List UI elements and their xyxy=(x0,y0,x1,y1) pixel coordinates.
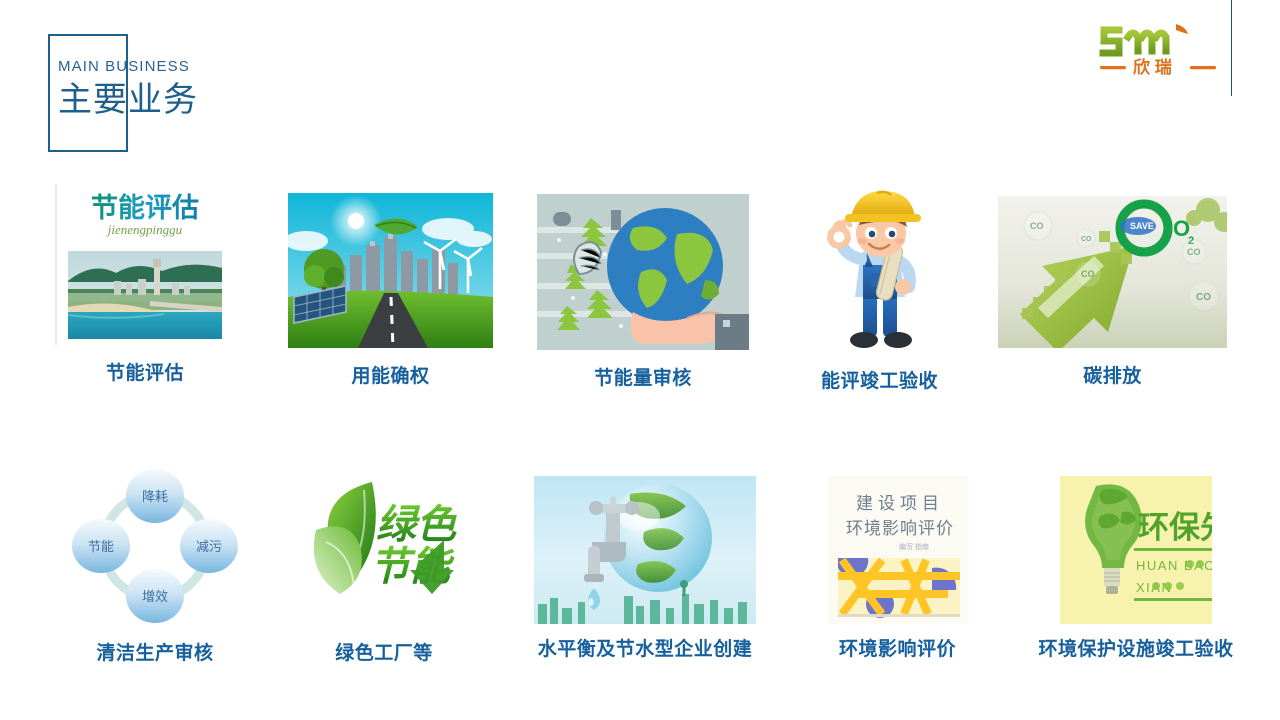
svg-text:SAVE: SAVE xyxy=(1130,221,1154,231)
business-card-caption: 用能确权 xyxy=(268,365,513,389)
business-card-environmental-impact-assessment[interactable]: 建设项目 环境影响评价 编写 指南 xyxy=(790,468,1005,662)
svg-text:节能评估: 节能评估 xyxy=(91,192,199,223)
svg-text:环境影响评价: 环境影响评价 xyxy=(846,519,954,538)
business-card-water-balance[interactable]: 水平衡及节水型企业创建 xyxy=(500,468,790,662)
svg-text:环保先: 环保先 xyxy=(1138,510,1212,545)
business-row-1: 节能评估 jienengpinggu xyxy=(0,185,1280,400)
business-card-carbon-emission[interactable]: O 2 SAVE CO CO CO xyxy=(985,185,1240,389)
business-card-energy-assessment-acceptance[interactable]: 能评竣工验收 xyxy=(772,185,987,394)
business-card-energy-saving-assessment[interactable]: 节能评估 jienengpinggu xyxy=(20,185,270,386)
business-card-caption: 节能量审核 xyxy=(518,367,768,391)
svg-text:CO: CO xyxy=(1196,292,1211,303)
business-card-caption: 碳排放 xyxy=(985,365,1240,389)
construction-worker-ok-mascot-image xyxy=(805,187,955,353)
business-card-caption: 绿色工厂等 xyxy=(268,642,500,666)
sunri-logo: 欣 瑞 xyxy=(1098,20,1218,82)
slide-canvas: MAIN BUSINESS 主要业务 xyxy=(0,0,1280,720)
business-card-cleaner-production-audit[interactable]: 降耗 减污 增效 节能 清洁生产审核 xyxy=(30,468,280,666)
business-card-caption: 环境保护设施竣工验收 xyxy=(1005,638,1267,662)
svg-text:jienengpinggu: jienengpinggu xyxy=(106,222,183,237)
svg-text:欣 瑞: 欣 瑞 xyxy=(1133,57,1172,77)
green-arrow-co2-bubbles-image: O 2 SAVE CO CO CO xyxy=(998,196,1227,348)
business-card-caption: 节能评估 xyxy=(20,362,270,386)
business-row-2: 降耗 减污 增效 节能 清洁生产审核 xyxy=(0,468,1280,688)
environmental-protection-bulb-poster-image: 环保先 HUAN BAO XIAN xyxy=(1060,476,1212,624)
business-card-caption: 清洁生产审核 xyxy=(30,642,280,666)
svg-text:减污: 减污 xyxy=(195,539,221,554)
svg-text:CO: CO xyxy=(1030,221,1044,231)
svg-text:节能: 节能 xyxy=(87,539,113,554)
page-title-english: MAIN BUSINESS xyxy=(58,58,478,76)
business-card-caption: 水平衡及节水型企业创建 xyxy=(500,638,790,662)
hand-holding-earth-illustration-image xyxy=(537,194,749,350)
business-card-energy-savings-audit[interactable]: 节能量审核 xyxy=(518,185,768,391)
four-circle-cycle-diagram-image: 降耗 减污 增效 节能 xyxy=(63,468,248,628)
green-leaf-energy-logo-image: 绿色 节能 xyxy=(294,468,474,628)
header-vertical-rule xyxy=(1231,0,1232,96)
svg-text:绿色: 绿色 xyxy=(376,503,457,547)
page-title: MAIN BUSINESS 主要业务 xyxy=(58,58,478,122)
business-card-green-factory[interactable]: 绿色 节能 绿色工厂等 xyxy=(268,468,500,666)
energy-saving-assessment-cover-image: 节能评估 jienengpinggu xyxy=(54,185,236,345)
business-card-environmental-facility-acceptance[interactable]: 环保先 HUAN BAO XIAN xyxy=(1005,468,1267,662)
svg-text:建设项目: 建设项目 xyxy=(856,494,944,513)
business-card-caption: 环境影响评价 xyxy=(790,638,1005,662)
svg-text:编写 指南: 编写 指南 xyxy=(899,542,929,551)
page-title-chinese: 主要业务 xyxy=(58,78,478,122)
svg-text:CO: CO xyxy=(1081,236,1092,243)
svg-text:增效: 增效 xyxy=(141,589,167,604)
business-card-caption: 能评竣工验收 xyxy=(772,370,987,394)
faucet-earth-waterdrop-illustration-image xyxy=(534,476,756,624)
svg-text:CO: CO xyxy=(1187,247,1201,257)
svg-text:CO: CO xyxy=(1081,269,1095,279)
svg-text:降耗: 降耗 xyxy=(141,489,167,504)
business-card-energy-rights-confirmation[interactable]: 用能确权 xyxy=(268,185,513,389)
eia-book-cover-image: 建设项目 环境影响评价 编写 指南 xyxy=(828,476,968,624)
green-city-energy-illustration-image xyxy=(288,193,493,348)
